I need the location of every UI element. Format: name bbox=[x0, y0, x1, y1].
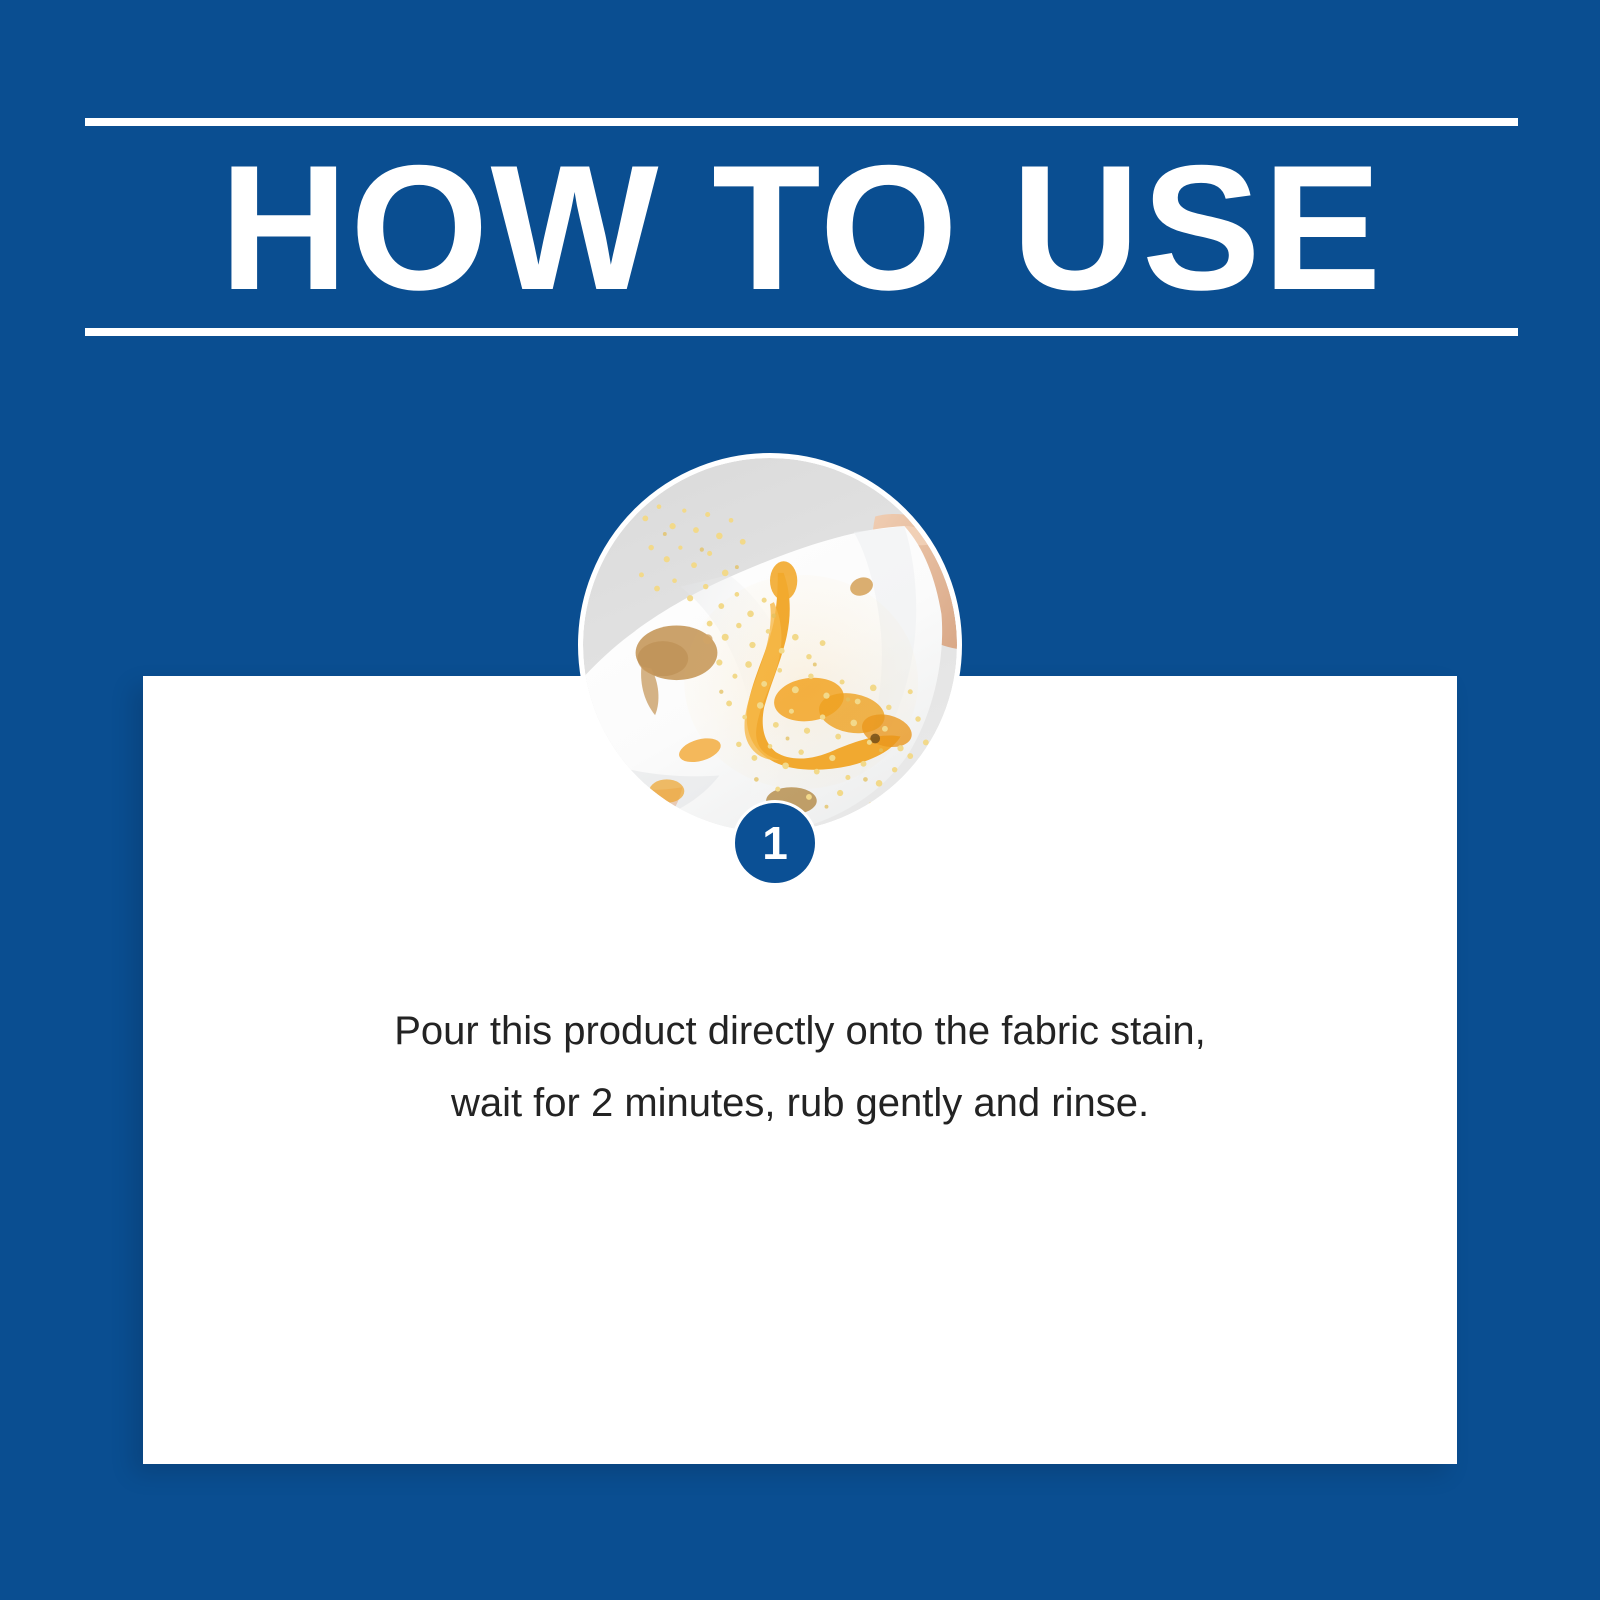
step-caption: Pour this product directly onto the fabr… bbox=[143, 995, 1457, 1139]
page-title: HOW TO USE bbox=[85, 126, 1518, 328]
caption-line-2: wait for 2 minutes, rub gently and rinse… bbox=[143, 1067, 1457, 1139]
caption-line-1: Pour this product directly onto the fabr… bbox=[143, 995, 1457, 1067]
stained-fabric-image bbox=[583, 458, 957, 832]
poster-canvas: HOW TO USE bbox=[0, 0, 1600, 1600]
title-rule-bottom bbox=[85, 328, 1518, 336]
step-number-label: 1 bbox=[762, 820, 788, 866]
step-photo bbox=[578, 453, 962, 837]
header-title-block: HOW TO USE bbox=[85, 118, 1518, 336]
step-number-badge: 1 bbox=[732, 800, 818, 886]
title-rule-top bbox=[85, 118, 1518, 126]
